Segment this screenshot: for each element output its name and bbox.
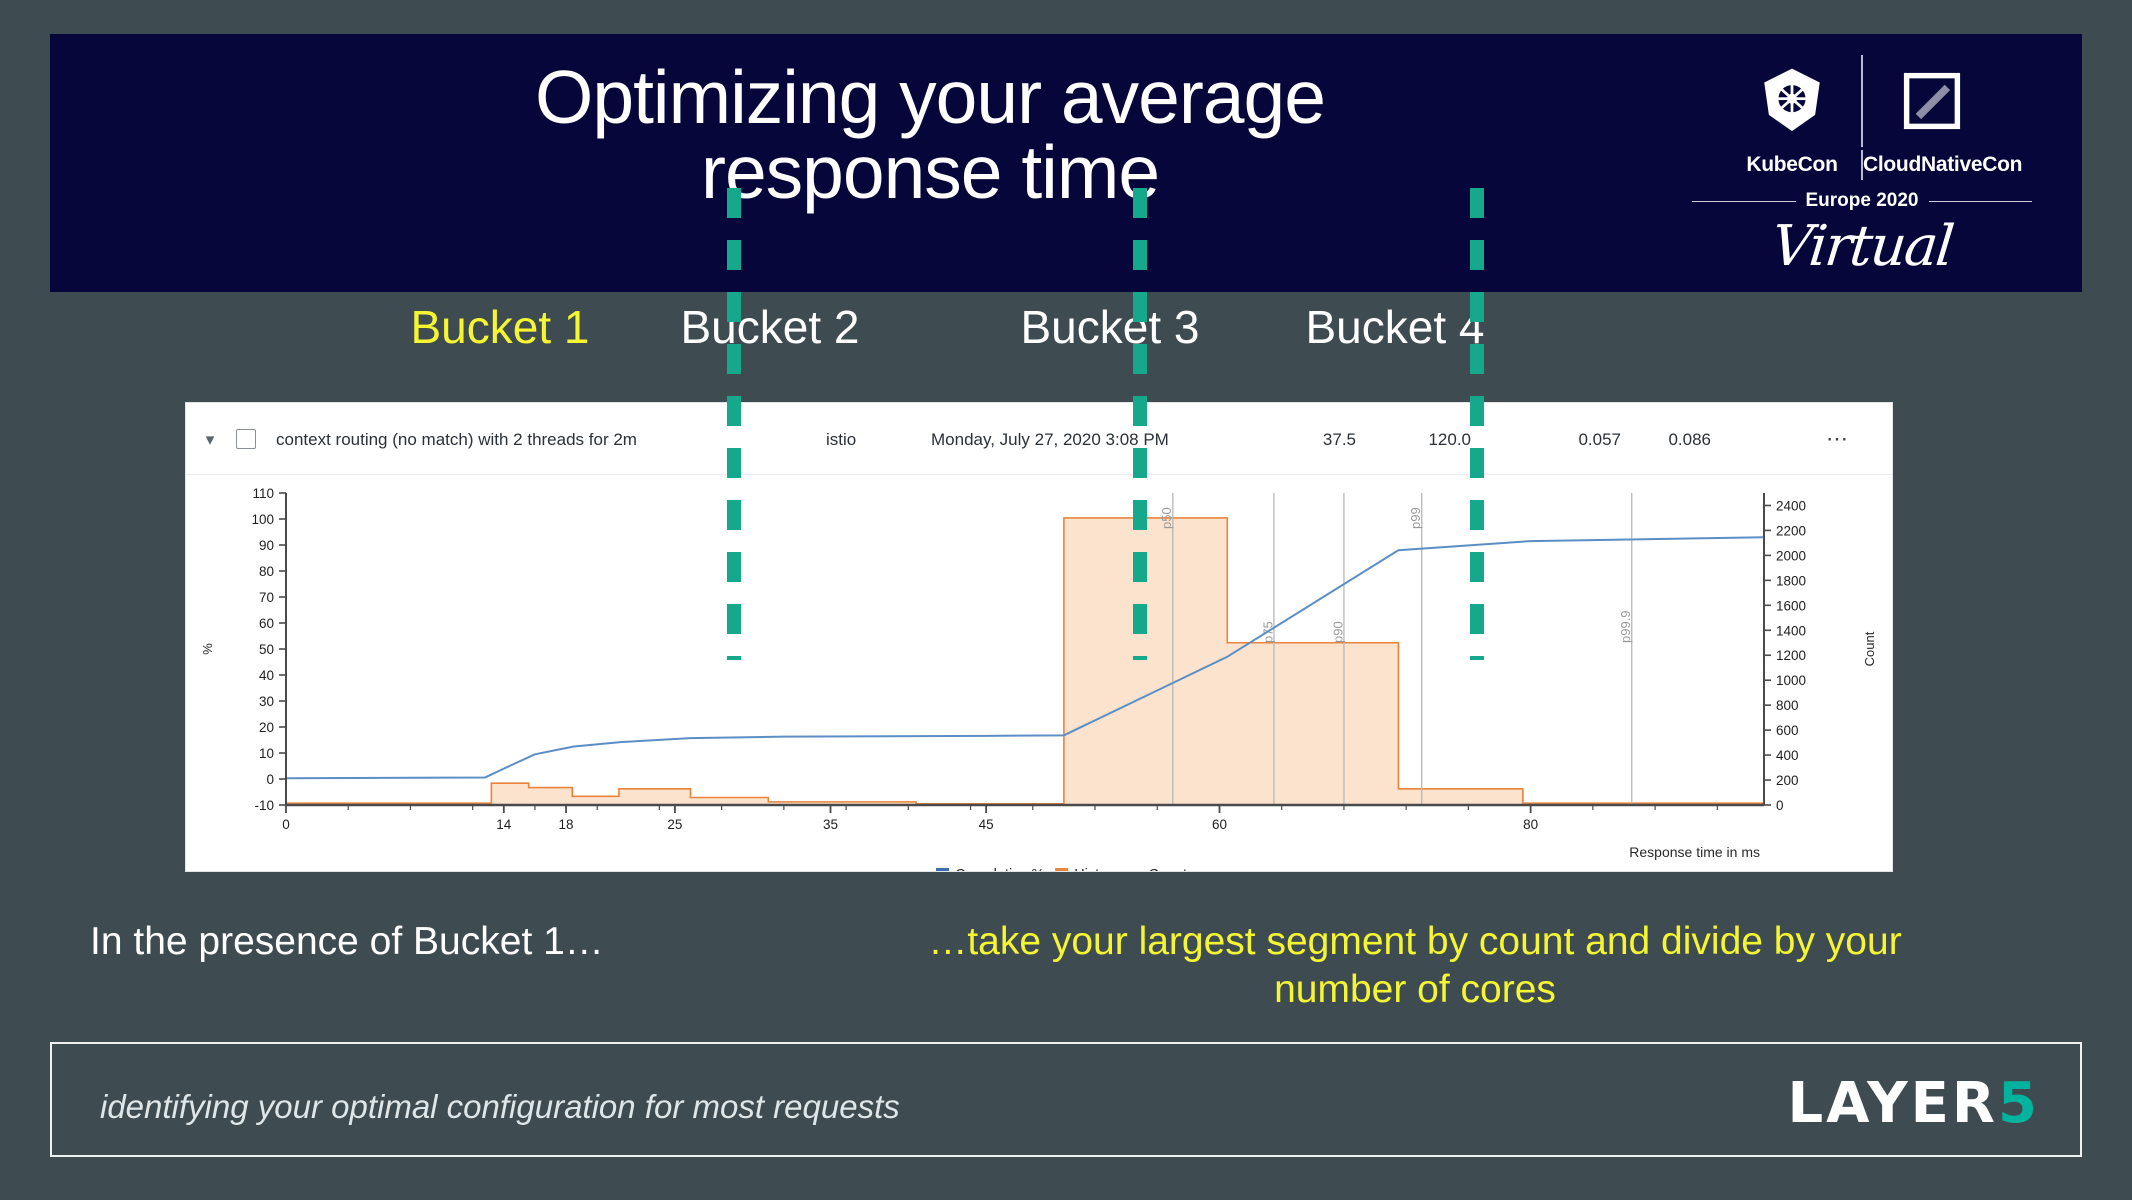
- histogram-step-area: [286, 518, 1764, 805]
- page-title-line2: response time: [170, 135, 1690, 210]
- y-tick-label: 50: [259, 642, 274, 657]
- y2-tick-label: 1600: [1776, 598, 1806, 613]
- slide-root: Optimizing your average response time: [0, 0, 2132, 1200]
- divider-bucket3-bucket4: [1470, 188, 1484, 660]
- x-axis-title: Response time in ms: [1629, 844, 1760, 860]
- histogram-chart: p50p75p90p99p99.9-1001020304050607080901…: [186, 475, 1892, 871]
- y-tick-label: 10: [259, 746, 274, 761]
- x-tick-label: 35: [823, 817, 838, 832]
- more-horizontal-icon[interactable]: ⋯: [1826, 429, 1850, 449]
- chevron-down-icon[interactable]: ▾: [201, 431, 219, 449]
- conference-modifier: Virtual: [1689, 214, 2036, 279]
- legend-swatch: [1055, 868, 1068, 871]
- caption-right-line2: number of cores: [790, 966, 2040, 1014]
- y2-axis-title: Count: [1862, 631, 1877, 666]
- percentile-label-p99: p99: [1408, 507, 1423, 529]
- result-metric-4: 0.086: [1641, 430, 1711, 450]
- result-metric-1: 37.5: [1286, 430, 1356, 450]
- cloudnativecon-label: CloudNativeCon: [1863, 153, 2001, 177]
- percentile-label-p90: p90: [1330, 621, 1345, 643]
- x-tick-label: 18: [559, 817, 574, 832]
- x-tick-label: 25: [667, 817, 682, 832]
- bucket-label-row: Bucket 1 Bucket 2 Bucket 3 Bucket 4: [50, 300, 2082, 380]
- caption-left: In the presence of Bucket 1…: [90, 920, 730, 964]
- percentile-label-p99.9: p99.9: [1618, 610, 1633, 643]
- result-mesh: istio: [826, 430, 856, 450]
- conference-edition: Europe 2020: [1806, 190, 1919, 212]
- cumulative-line: [286, 537, 1764, 778]
- y2-tick-label: 400: [1776, 748, 1799, 763]
- histogram-chart-svg: p50p75p90p99p99.9-1001020304050607080901…: [186, 475, 1892, 871]
- page-title-line1: Optimizing your average: [170, 60, 1690, 135]
- x-tick-label: 0: [282, 817, 290, 832]
- title-banner: Optimizing your average response time: [50, 34, 2082, 292]
- y2-tick-label: 800: [1776, 698, 1799, 713]
- x-tick-label: 80: [1523, 817, 1538, 832]
- y2-tick-label: 2400: [1776, 498, 1806, 513]
- rule-right: [1929, 201, 2033, 202]
- y-tick-label: 60: [259, 616, 274, 631]
- result-name: context routing (no match) with 2 thread…: [276, 430, 637, 450]
- percentile-label-p50: p50: [1159, 507, 1174, 529]
- y-tick-label: 110: [252, 486, 274, 501]
- x-tick-label: 45: [979, 817, 994, 832]
- y-tick-label: 100: [251, 512, 274, 527]
- layer5-word: LAYER: [1787, 1071, 1998, 1136]
- y2-tick-label: 0: [1776, 798, 1784, 813]
- y-tick-label: 20: [259, 720, 274, 735]
- conference-logo: KubeCon CloudNativeCon Europe 2020 Virtu…: [1692, 52, 2032, 277]
- conference-edition-row: Europe 2020: [1692, 190, 2032, 212]
- result-metric-2: 120.0: [1401, 430, 1471, 450]
- footer-caption: identifying your optimal configuration f…: [100, 1088, 900, 1126]
- y-axis-title: %: [200, 643, 215, 655]
- result-row[interactable]: ▾ context routing (no match) with 2 thre…: [186, 403, 1892, 475]
- y2-tick-label: 1400: [1776, 623, 1806, 638]
- x-tick-label: 60: [1212, 817, 1227, 832]
- row-checkbox[interactable]: [236, 429, 256, 449]
- y2-tick-label: 1000: [1776, 673, 1806, 688]
- legend-swatch: [936, 868, 949, 871]
- conference-logo-names: KubeCon CloudNativeCon: [1692, 150, 2032, 180]
- y-tick-label: 90: [259, 538, 274, 553]
- y-tick-label: 30: [259, 694, 274, 709]
- layer5-logo: LAYER5: [1787, 1071, 2040, 1136]
- divider-bucket2-bucket3: [1133, 188, 1147, 660]
- y2-tick-label: 600: [1776, 723, 1799, 738]
- y2-tick-label: 2000: [1776, 548, 1806, 563]
- layer5-mark: 5: [1998, 1071, 2040, 1136]
- slide-footer: identifying your optimal configuration f…: [50, 1042, 2082, 1157]
- y-tick-label: 70: [259, 590, 274, 605]
- x-tick-label: 14: [496, 817, 512, 832]
- y2-tick-label: 2200: [1776, 523, 1806, 538]
- y2-tick-label: 1800: [1776, 573, 1806, 588]
- bucket-label-4: Bucket 4: [1175, 300, 1615, 354]
- legend-label: Histogram: Count: [1074, 867, 1187, 871]
- caption-right-line1: …take your largest segment by count and …: [790, 918, 2040, 966]
- fortio-result-panel: ▾ context routing (no match) with 2 thre…: [185, 402, 1893, 872]
- legend-label: Cumulative %: [955, 867, 1045, 871]
- kubernetes-helm-icon: [1723, 64, 1861, 138]
- caption-right: …take your largest segment by count and …: [790, 918, 2040, 1013]
- y-tick-label: -10: [254, 798, 274, 813]
- result-metric-3: 0.057: [1551, 430, 1621, 450]
- rule-left: [1692, 201, 1796, 202]
- page-title: Optimizing your average response time: [170, 60, 1690, 210]
- cncf-square-icon: [1863, 72, 2001, 130]
- conference-logo-marks: [1692, 52, 2032, 150]
- y-tick-label: 0: [266, 772, 274, 787]
- divider-bucket1-bucket2: [727, 188, 741, 660]
- y-tick-label: 40: [259, 668, 274, 683]
- y2-tick-label: 200: [1776, 773, 1799, 788]
- y2-tick-label: 1200: [1776, 648, 1806, 663]
- y-tick-label: 80: [259, 564, 274, 579]
- kubecon-label: KubeCon: [1723, 153, 1861, 177]
